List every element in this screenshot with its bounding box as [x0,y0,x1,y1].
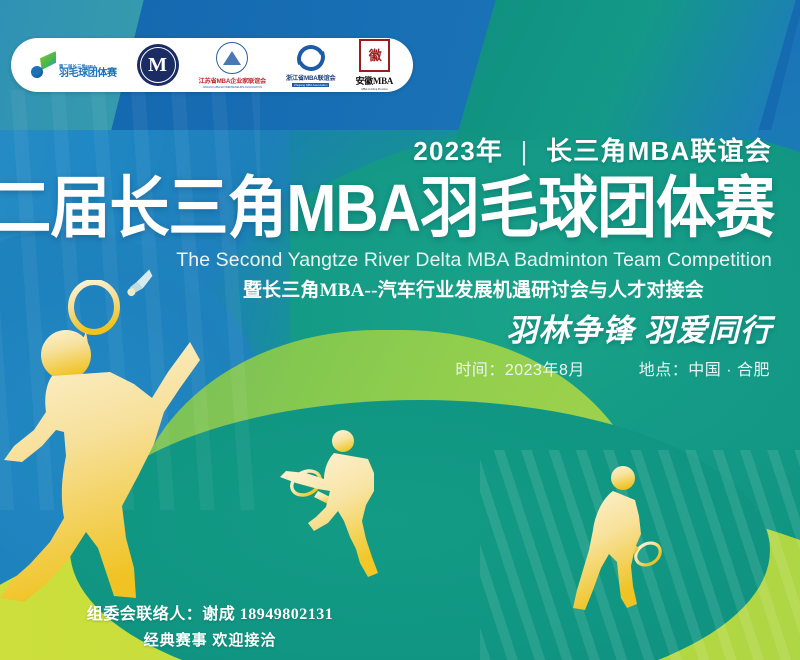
background-diagonal-green [456,0,800,140]
logo4-cn: 浙江省MBA联谊会 [286,73,335,82]
logo-mba-seal: M [137,44,179,86]
logo3-cn: 江苏省MBA企业家联谊会 [199,76,266,85]
event-place: 地点：中国 · 合肥 [639,362,770,379]
kicker-year: 2023年 [413,136,503,166]
event-subtitle-english: The Second Yangtze River Delta MBA Badmi… [176,249,772,272]
logo5-en: MBA of Anhui Province [361,87,387,91]
kicker-org: 长三角MBA联谊会 [546,136,772,166]
logo1-line2: 羽毛球团体赛 [59,69,117,79]
player-jump-smash [0,280,224,610]
swirl-icon [296,44,326,72]
event-meta: 时间：2023年8月 地点：中国 · 合肥 [455,356,770,380]
player-ready-stance [565,462,705,622]
shuttlecock-icon [31,51,57,79]
logo-zhejiang-mba-association: 浙江省MBA联谊会 Zhejiang MBA Association [286,44,335,87]
footer-contact: 组委会联络人：谢成 18949802131 [0,600,420,624]
round-seal-icon: M [137,44,179,86]
logo5-seal-char: 徽 [369,49,380,62]
event-slogan: 羽林争锋 羽爱同行 [506,305,772,350]
sponsor-logo-bar: 第二届长三角MBA 羽毛球团体赛 M 江苏省MBA企业家联谊会 JIANGSU … [11,38,413,92]
kicker-separator: | [521,136,529,166]
event-subtitle-chinese: 暨长三角MBA--汽车行业发展机遇研讨会与人才对接会 [243,275,704,302]
footer-block: 组委会联络人：谢成 18949802131 经典赛事 欢迎接洽 [0,600,420,650]
red-seal-icon: 徽 [359,39,390,72]
logo4-en: Zhejiang MBA Association [292,83,329,87]
event-time: 时间：2023年8月 [455,362,585,379]
logo2-monogram: M [148,55,167,75]
logo5-cn: 安徽MBA [355,74,393,87]
event-title: 第二届长三角MBA羽毛球团体赛 [0,175,774,242]
poster-canvas: 第二届长三角MBA 羽毛球团体赛 M 江苏省MBA企业家联谊会 JIANGSU … [0,0,800,660]
footer-tagline: 经典赛事 欢迎接洽 [0,629,420,650]
logo-yangtze-delta-mba-badminton: 第二届长三角MBA 羽毛球团体赛 [31,51,117,79]
mountain-circle-icon [216,42,248,74]
player-lunge-net [262,425,412,585]
event-kicker: 2023年 | 长三角MBA联谊会 [413,131,772,168]
logo-anhui-mba: 徽 安徽MBA MBA of Anhui Province [355,39,393,91]
logo-jiangsu-mba-entrepreneurs: 江苏省MBA企业家联谊会 JIANGSU MBA ENTREPRENEURS A… [199,42,266,89]
logo3-en: JIANGSU MBA ENTREPRENEURS ASSOCIATION [203,85,262,89]
